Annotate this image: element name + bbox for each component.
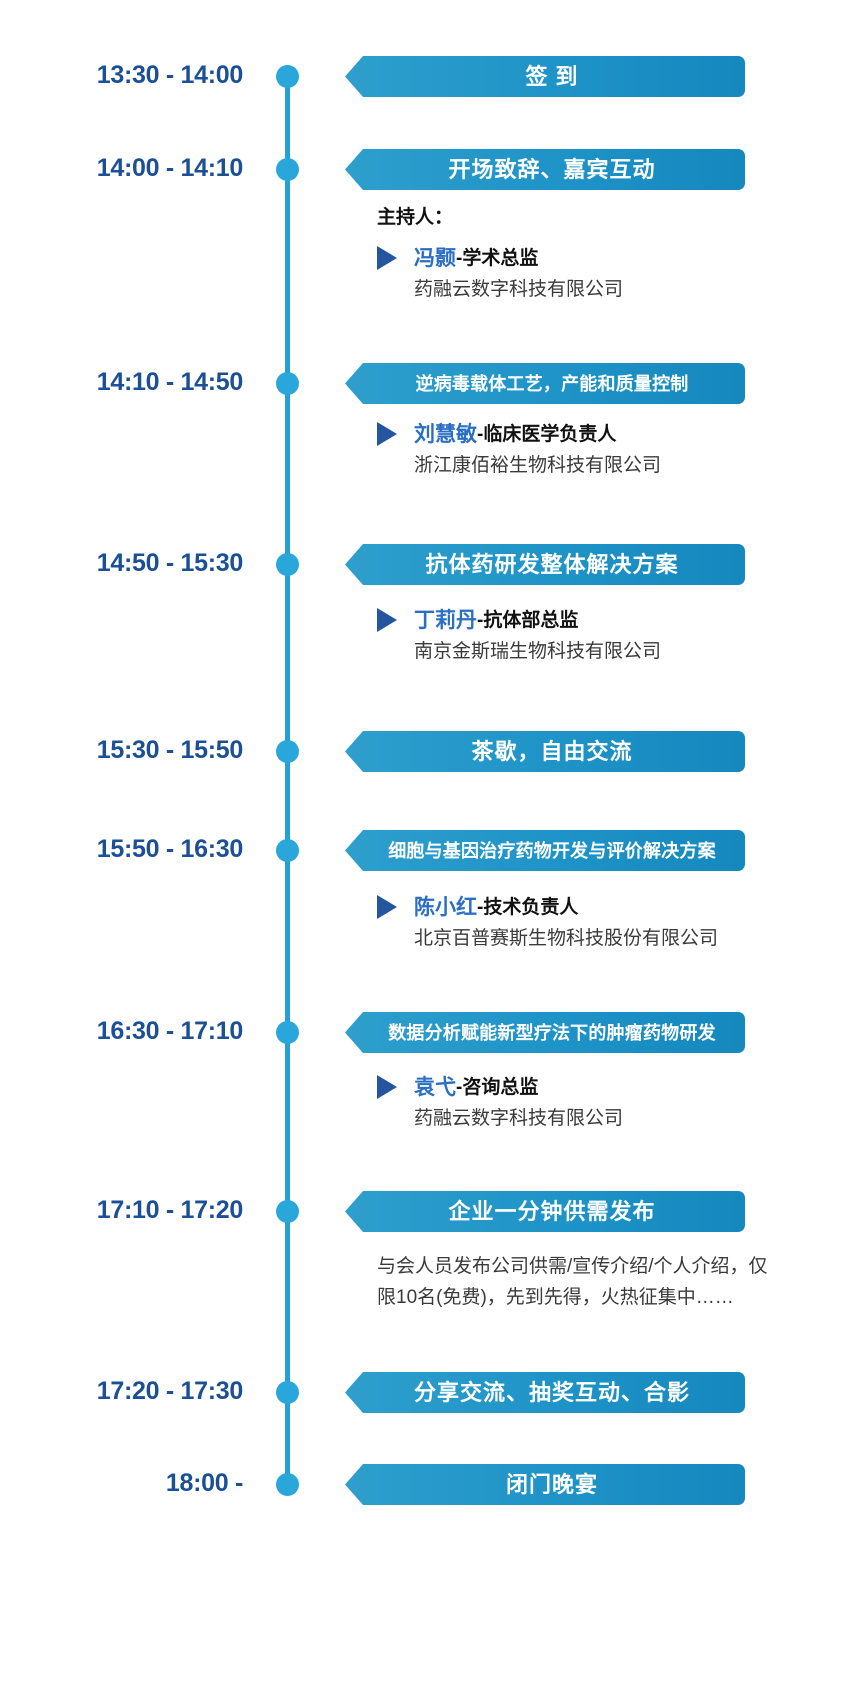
play-triangle-icon <box>377 895 397 919</box>
session-detail: 刘慧敏 -临床医学负责人 浙江康佰裕生物科技有限公司 <box>377 422 777 479</box>
row-time: 14:50 - 15:30 <box>0 551 243 576</box>
speaker-role: -技术负责人 <box>477 898 578 917</box>
speaker-line: 袁弋 -咨询总监 <box>377 1075 777 1099</box>
row-time: 17:20 - 17:30 <box>0 1379 243 1404</box>
row-time: 14:10 - 14:50 <box>0 370 243 395</box>
session-banner[interactable]: 签 到 <box>345 56 745 97</box>
host-label: 主持人： <box>377 208 777 227</box>
session-banner[interactable]: 闭门晚宴 <box>345 1464 745 1505</box>
timeline-dot <box>276 1381 299 1404</box>
row-time: 15:50 - 16:30 <box>0 837 243 862</box>
speaker-company: 北京百普赛斯生物科技股份有限公司 <box>377 926 777 952</box>
session-detail: 陈小红 -技术负责人 北京百普赛斯生物科技股份有限公司 <box>377 895 777 952</box>
session-title: 分享交流、抽奖互动、合影 <box>400 1382 690 1404</box>
row-time: 16:30 - 17:10 <box>0 1019 243 1044</box>
timeline-dot <box>276 372 299 395</box>
session-title: 细胞与基因治疗药物开发与评价解决方案 <box>374 842 716 860</box>
speaker-name: 冯颢 <box>414 248 456 269</box>
agenda-timeline: 13:30 - 14:00 签 到 14:00 - 14:10 开场致辞、嘉宾互… <box>0 0 845 1701</box>
play-triangle-icon <box>377 246 397 270</box>
speaker-role: -学术总监 <box>456 249 538 268</box>
session-banner[interactable]: 开场致辞、嘉宾互动 <box>345 149 745 190</box>
session-title: 茶歇，自由交流 <box>457 741 632 763</box>
speaker-company: 药融云数字科技有限公司 <box>377 1106 777 1132</box>
timeline-dot <box>276 839 299 862</box>
play-triangle-icon <box>377 422 397 446</box>
timeline-spine <box>285 78 290 1488</box>
speaker-company: 南京金斯瑞生物科技有限公司 <box>377 639 777 665</box>
speaker-name: 袁弋 <box>414 1077 456 1098</box>
speaker-role: -抗体部总监 <box>477 611 578 630</box>
speaker-role: -临床医学负责人 <box>477 425 616 444</box>
session-title: 签 到 <box>511 66 578 88</box>
play-triangle-icon <box>377 1075 397 1099</box>
session-banner[interactable]: 茶歇，自由交流 <box>345 731 745 772</box>
session-title: 企业一分钟供需发布 <box>434 1201 655 1223</box>
session-title: 闭门晚宴 <box>492 1474 598 1496</box>
speaker-line: 刘慧敏 -临床医学负责人 <box>377 422 777 446</box>
row-time: 17:10 - 17:20 <box>0 1198 243 1223</box>
session-banner[interactable]: 企业一分钟供需发布 <box>345 1191 745 1232</box>
session-title: 数据分析赋能新型疗法下的肿瘤药物研发 <box>374 1024 716 1042</box>
timeline-dot <box>276 158 299 181</box>
timeline-dot <box>276 1200 299 1223</box>
play-triangle-icon <box>377 608 397 632</box>
speaker-name: 陈小红 <box>414 897 477 918</box>
speaker-name: 丁莉丹 <box>414 610 477 631</box>
session-detail: 袁弋 -咨询总监 药融云数字科技有限公司 <box>377 1075 777 1132</box>
session-title: 抗体药研发整体解决方案 <box>411 554 678 576</box>
session-banner[interactable]: 逆病毒载体工艺，产能和质量控制 <box>345 363 745 404</box>
session-banner[interactable]: 细胞与基因治疗药物开发与评价解决方案 <box>345 830 745 871</box>
speaker-line: 冯颢 -学术总监 <box>377 246 777 270</box>
speaker-name: 刘慧敏 <box>414 424 477 445</box>
speaker-line: 丁莉丹 -抗体部总监 <box>377 608 777 632</box>
speaker-company: 药融云数字科技有限公司 <box>377 277 777 303</box>
session-banner[interactable]: 数据分析赋能新型疗法下的肿瘤药物研发 <box>345 1012 745 1053</box>
session-title: 逆病毒载体工艺，产能和质量控制 <box>402 375 689 393</box>
timeline-dot <box>276 1473 299 1496</box>
session-detail: 与会人员发布公司供需/宣传介绍/个人介绍，仅限10名(免费)，先到先得，火热征集… <box>377 1252 777 1314</box>
row-time: 14:00 - 14:10 <box>0 156 243 181</box>
session-detail: 丁莉丹 -抗体部总监 南京金斯瑞生物科技有限公司 <box>377 608 777 665</box>
timeline-dot <box>276 1021 299 1044</box>
speaker-role: -咨询总监 <box>456 1078 538 1097</box>
timeline-dot <box>276 65 299 88</box>
speaker-line: 陈小红 -技术负责人 <box>377 895 777 919</box>
speaker-company: 浙江康佰裕生物科技有限公司 <box>377 453 777 479</box>
row-time: 15:30 - 15:50 <box>0 738 243 763</box>
row-time: 18:00 - <box>0 1471 243 1496</box>
session-note: 与会人员发布公司供需/宣传介绍/个人介绍，仅限10名(免费)，先到先得，火热征集… <box>377 1252 769 1314</box>
session-detail: 主持人： 冯颢 -学术总监 药融云数字科技有限公司 <box>377 208 777 303</box>
row-time: 13:30 - 14:00 <box>0 63 243 88</box>
session-title: 开场致辞、嘉宾互动 <box>434 159 655 181</box>
timeline-dot <box>276 740 299 763</box>
session-banner[interactable]: 抗体药研发整体解决方案 <box>345 544 745 585</box>
session-banner[interactable]: 分享交流、抽奖互动、合影 <box>345 1372 745 1413</box>
timeline-dot <box>276 553 299 576</box>
